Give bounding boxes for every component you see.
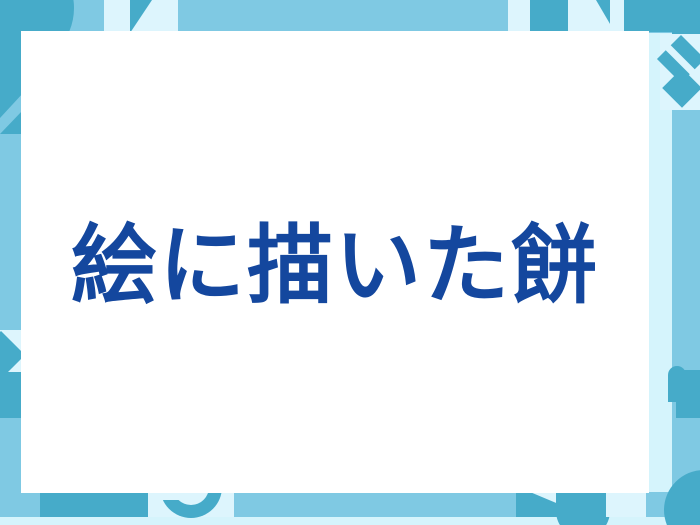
background-band-right xyxy=(672,0,700,512)
decor-panel-bottom-far-right xyxy=(606,492,646,517)
slide-canvas: 絵に描いた餅 xyxy=(0,0,700,525)
decor-block-left-lower xyxy=(0,372,22,418)
decor-stripe-right xyxy=(661,41,698,78)
decor-panel-top-b xyxy=(152,0,178,33)
decor-block-bottom-left xyxy=(40,492,148,517)
decor-diamond-right-a xyxy=(657,35,700,83)
decor-panel-top-a xyxy=(104,0,152,33)
decor-triangle-bottom-right xyxy=(530,492,592,518)
decor-triangle-left-upper xyxy=(0,110,23,134)
phrase-text: 絵に描いた餅 xyxy=(71,223,599,309)
decor-panel-top-right-a xyxy=(508,0,546,33)
decor-block-right-lower xyxy=(676,370,700,418)
decor-circle-bottom-right xyxy=(664,470,700,525)
background-band-bottom xyxy=(0,492,700,517)
decor-panel-right xyxy=(660,34,700,110)
decor-trapezoid-top-right xyxy=(596,0,700,32)
decor-square-top-right xyxy=(530,0,568,31)
decor-panel-bottom-left xyxy=(148,492,234,517)
background-band-left xyxy=(0,0,22,505)
decor-panel-left xyxy=(0,330,22,390)
decor-arch-right-lower xyxy=(668,366,686,402)
decor-diamond-right-b xyxy=(662,68,700,108)
content-card: 絵に描いた餅 xyxy=(21,31,649,493)
decor-block-right-top xyxy=(672,0,700,34)
decor-panel-bottom-right xyxy=(592,492,626,517)
background-band-top xyxy=(0,0,700,33)
decor-panel-top-right-b xyxy=(568,0,614,33)
decor-wedge-top xyxy=(130,0,152,33)
decor-panel-top-right-c xyxy=(610,0,624,33)
decor-block-bottom-right xyxy=(516,492,592,517)
